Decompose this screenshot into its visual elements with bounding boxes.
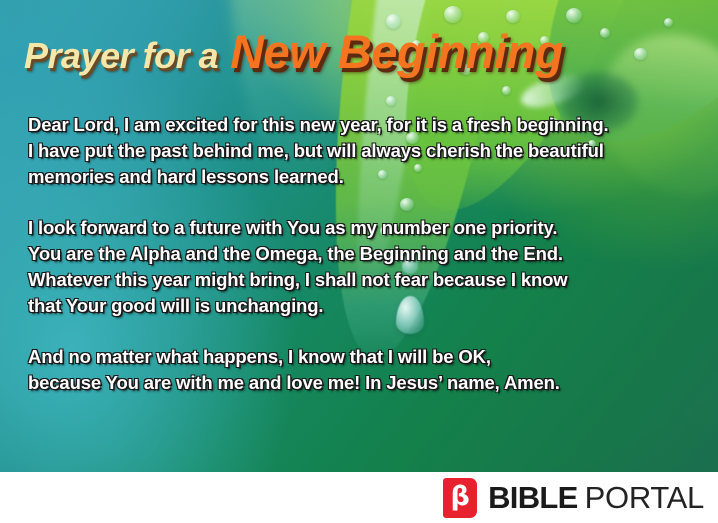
footer-bar: β BIBLE PORTAL xyxy=(0,472,718,523)
logo-wordmark: BIBLE PORTAL xyxy=(488,480,704,516)
prayer-line: I look forward to a future with You as m… xyxy=(28,215,700,241)
prayer-body: Dear Lord, I am excited for this new yea… xyxy=(28,112,700,396)
paragraph-3: And no matter what happens, I know that … xyxy=(28,344,700,396)
logo-word-bible: BIBLE xyxy=(488,480,578,516)
title-part-one: Prayer for a xyxy=(24,35,218,77)
beta-glyph: β xyxy=(450,483,469,510)
prayer-line: because You are with me and love me! In … xyxy=(28,370,700,396)
paragraph-2: I look forward to a future with You as m… xyxy=(28,215,700,319)
prayer-poster: Prayer for a New Beginning Dear Lord, I … xyxy=(0,0,718,523)
prayer-line: Dear Lord, I am excited for this new yea… xyxy=(28,112,700,138)
prayer-line: You are the Alpha and the Omega, the Beg… xyxy=(28,241,700,267)
bible-portal-logo[interactable]: β BIBLE PORTAL xyxy=(443,478,704,518)
prayer-line: that Your good will is unchanging. xyxy=(28,293,700,319)
beta-mark-icon: β xyxy=(443,478,477,518)
prayer-line: Whatever this year might bring, I shall … xyxy=(28,267,700,293)
prayer-line: And no matter what happens, I know that … xyxy=(28,344,700,370)
title-part-two: New Beginning xyxy=(230,24,563,79)
prayer-line: memories and hard lessons learned. xyxy=(28,164,700,190)
poster-title: Prayer for a New Beginning xyxy=(24,24,563,79)
paragraph-1: Dear Lord, I am excited for this new yea… xyxy=(28,112,700,190)
prayer-line: I have put the past behind me, but will … xyxy=(28,138,700,164)
logo-word-portal: PORTAL xyxy=(585,480,704,516)
